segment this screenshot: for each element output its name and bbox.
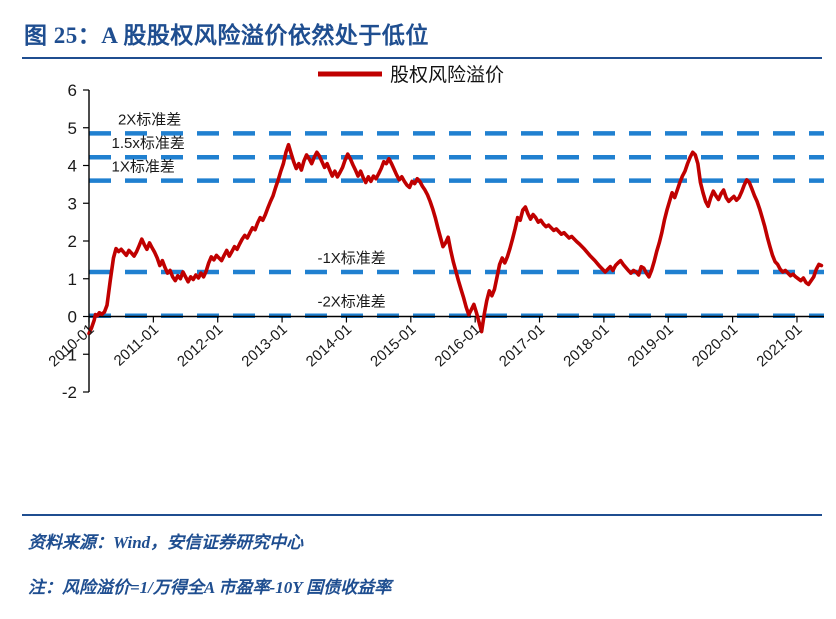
x-tick-label-2: 2012-01 xyxy=(174,321,226,370)
chart-area: 股权风险溢价 -2-10123456 2X标准差1.5x标准差1X标准差-1X标… xyxy=(0,62,836,512)
legend-label: 股权风险溢价 xyxy=(390,64,504,86)
band-labels: 2X标准差1.5x标准差1X标准差-1X标准差-2X标准差 xyxy=(112,111,386,310)
x-tick-label-10: 2020-01 xyxy=(689,321,741,370)
y-tick-label-3: 1 xyxy=(68,270,77,289)
band-label-2: 1X标准差 xyxy=(112,159,175,176)
chart-legend: 股权风险溢价 xyxy=(318,64,504,86)
band-label-1: 1.5x标准差 xyxy=(112,135,185,152)
x-tick-label-1: 2011-01 xyxy=(111,321,162,370)
series-path-0 xyxy=(89,145,821,334)
page-title: 图 25：A 股股权风险溢价依然处于低位 xyxy=(24,16,429,50)
std-dev-band-lines xyxy=(89,133,824,315)
footer-divider xyxy=(22,514,822,516)
x-tick-label-5: 2015-01 xyxy=(367,321,419,370)
band-label-3: -1X标准差 xyxy=(317,250,385,267)
y-tick-label-8: 6 xyxy=(68,81,77,100)
x-tick-label-3: 2013-01 xyxy=(238,321,290,370)
x-tick-label-8: 2018-01 xyxy=(560,321,612,370)
band-label-0: 2X标准差 xyxy=(118,111,181,128)
band-label-4: -2X标准差 xyxy=(317,294,385,311)
y-tick-label-5: 3 xyxy=(68,194,77,213)
x-axis-tick-labels: 2010-012011-012012-012013-012014-012015-… xyxy=(45,317,805,371)
x-tick-label-9: 2019-01 xyxy=(625,321,677,370)
definition-note: 注：风险溢价=1/万得全A 市盈率-10Y 国债收益率 xyxy=(28,573,391,598)
y-tick-label-6: 4 xyxy=(68,157,77,176)
y-tick-label-2: 0 xyxy=(68,308,77,327)
x-tick-label-7: 2017-01 xyxy=(496,321,548,370)
x-tick-label-6: 2016-01 xyxy=(432,321,484,370)
chart-series xyxy=(89,145,821,334)
title-divider xyxy=(22,57,822,59)
source-note: 资料来源：Wind，安信证券研究中心 xyxy=(28,528,303,553)
figure-page: 图 25：A 股股权风险溢价依然处于低位 股权风险溢价 -2-10123456 … xyxy=(0,0,836,619)
y-tick-label-7: 5 xyxy=(68,119,77,138)
y-tick-label-4: 2 xyxy=(68,232,77,251)
equity-risk-premium-line-chart: 股权风险溢价 -2-10123456 2X标准差1.5x标准差1X标准差-1X标… xyxy=(0,62,836,512)
x-tick-label-4: 2014-01 xyxy=(303,321,355,370)
x-tick-label-11: 2021-01 xyxy=(753,321,805,370)
y-tick-label-0: -2 xyxy=(62,383,77,402)
